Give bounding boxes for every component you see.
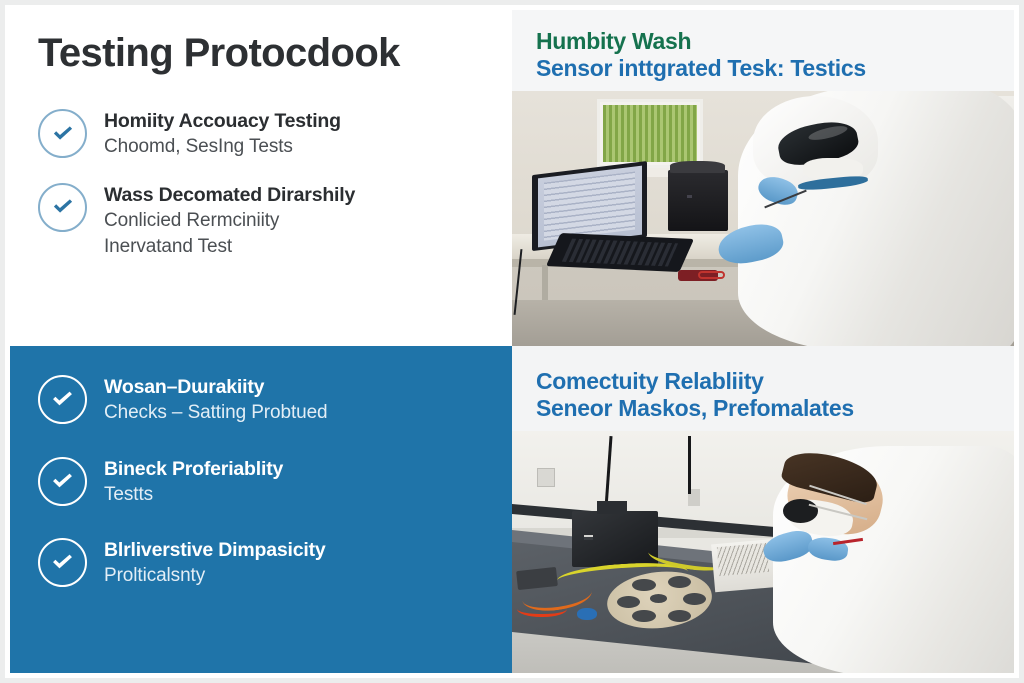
list-item-text: Homiity Accouacy Testing Choomd, SesIng … <box>104 108 341 160</box>
photo-card-headings: Comectuity Relabliity Seneor Maskos, Pre… <box>512 368 1014 431</box>
check-icon <box>38 109 87 158</box>
list-item-heading: Bineck Proferiablity <box>104 458 283 481</box>
list-item[interactable]: Homiity Accouacy Testing Choomd, SesIng … <box>38 108 488 160</box>
list-item-subtext: Prolticalsnty <box>104 564 326 589</box>
list-item-subtext: Choomd, SesIng Tests <box>104 135 341 160</box>
photo-card-heading-secondary: Sensor inttgrated Tesk: Testics <box>536 55 992 82</box>
list-item-subtext: Testts <box>104 483 283 508</box>
list-item-text: Wass Decomated Dirarshily Conlicied Rerm… <box>104 182 355 260</box>
list-item-text: Wosan–Dɯrakiity Checks – Satting Probtue… <box>104 374 328 426</box>
white-bullet-panel: Testing Protocdook Homiity Accouacy Test… <box>10 10 512 346</box>
list-item-text: Bineck Proferiablity Testts <box>104 456 283 508</box>
photo-card-humidity: Humbity Wash Sensor inttgrated Tesk: Tes… <box>512 10 1014 346</box>
list-item[interactable]: Blrliverstive Dimpasicity Prolticalsnty <box>38 537 488 589</box>
list-item-heading: Homiity Accouacy Testing <box>104 110 341 133</box>
check-icon <box>38 538 87 587</box>
list-item-subtext: Checks – Satting Probtued <box>104 401 328 426</box>
photo-card-heading-primary: Humbity Wash <box>536 28 992 55</box>
photo-card-heading-primary: Comectuity Relabliity <box>536 368 992 395</box>
photo-card-connectivity: Comectuity Relabliity Seneor Maskos, Pre… <box>512 346 1014 673</box>
check-icon <box>38 457 87 506</box>
list-item-subtext-line-1: Conlicied Rermciniity <box>104 209 355 234</box>
blue-bullet-panel: Wosan–Dɯrakiity Checks – Satting Probtue… <box>10 346 512 673</box>
list-item[interactable]: Wosan–Dɯrakiity Checks – Satting Probtue… <box>38 374 488 426</box>
list-item[interactable]: Bineck Proferiablity Testts <box>38 456 488 508</box>
blue-bullet-list: Wosan–Dɯrakiity Checks – Satting Probtue… <box>38 374 488 589</box>
photo-cleanroom-operator <box>512 91 1014 346</box>
white-bullet-list: Homiity Accouacy Testing Choomd, SesIng … <box>38 108 488 260</box>
list-item-subtext-line-2: Inervatand Test <box>104 235 355 260</box>
list-item-heading: Blrliverstive Dimpasicity <box>104 539 326 562</box>
check-icon <box>38 375 87 424</box>
photo-card-headings: Humbity Wash Sensor inttgrated Tesk: Tes… <box>512 28 1014 91</box>
list-item[interactable]: Wass Decomated Dirarshily Conlicied Rerm… <box>38 182 488 260</box>
slide-root: Testing Protocdook Homiity Accouacy Test… <box>0 0 1024 683</box>
check-icon <box>38 183 87 232</box>
list-item-text: Blrliverstive Dimpasicity Prolticalsnty <box>104 537 326 589</box>
slide-grid: Testing Protocdook Homiity Accouacy Test… <box>10 10 1014 673</box>
photo-bench-technician <box>512 431 1014 673</box>
list-item-heading: Wosan–Dɯrakiity <box>104 376 328 399</box>
page-title: Testing Protocdook <box>38 32 488 74</box>
photo-card-heading-secondary: Seneor Maskos, Prefomalates <box>536 395 992 422</box>
list-item-heading: Wass Decomated Dirarshily <box>104 184 355 207</box>
